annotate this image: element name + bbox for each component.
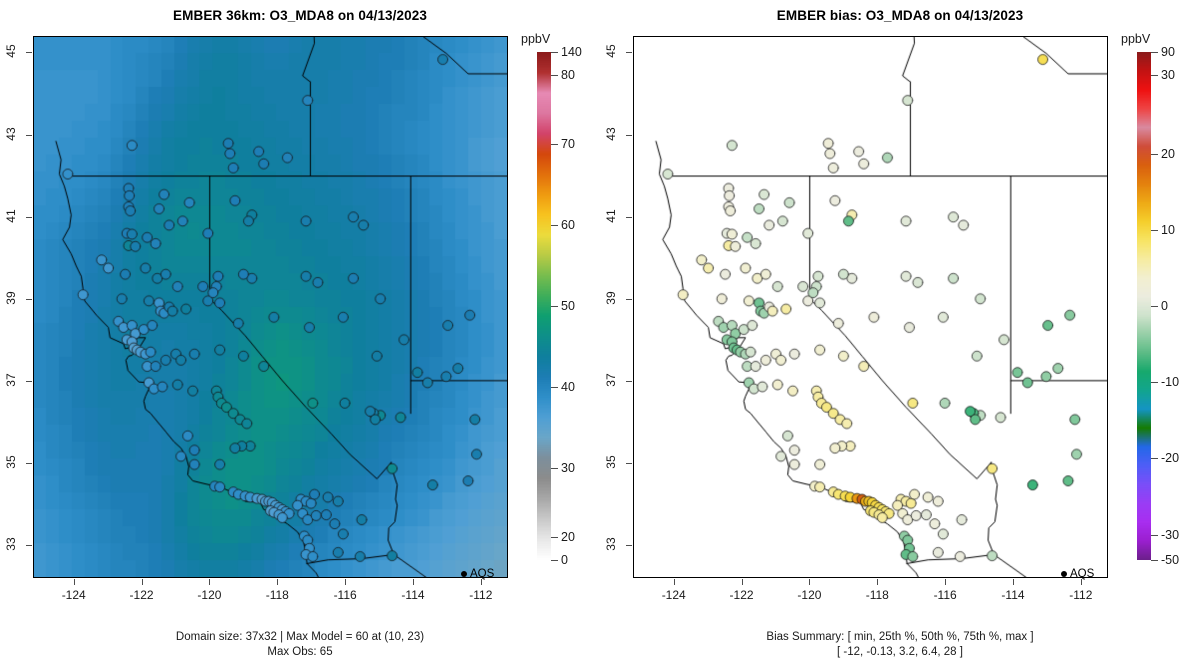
x-axis-label: -114 (991, 588, 1035, 602)
colorbar-tick-label: -20 (1161, 451, 1179, 465)
x-axis-label: -120 (787, 588, 831, 602)
panel-model: EMBER 36km: O3_MDA8 on 04/13/2023 -124-1… (0, 0, 600, 672)
y-axis-tick (626, 217, 632, 218)
map-plot-bias[interactable] (633, 36, 1108, 578)
y-axis-tick (26, 463, 32, 464)
colorbar-tick (1151, 458, 1158, 459)
footer-bias-line1: Bias Summary: [ min, 25th %, 50th %, 75t… (600, 630, 1200, 645)
y-axis-tick (26, 299, 32, 300)
x-axis-tick (1013, 579, 1014, 585)
colorbar-tick (551, 225, 558, 226)
colorbar-tick-label: 10 (1161, 223, 1175, 237)
colorbar-tick (551, 537, 558, 538)
x-axis-label: -122 (720, 588, 764, 602)
colorbar-tick-label: 20 (561, 530, 575, 544)
colorbar-tick-label: 0 (561, 553, 568, 567)
aqs-dot-icon (461, 571, 467, 577)
x-axis-tick (345, 579, 346, 585)
x-axis-tick (413, 579, 414, 585)
colorbar-tick-label: -50 (1161, 553, 1179, 567)
colorbar-tick-label: 90 (1161, 45, 1175, 59)
colorbar-tick (551, 52, 558, 53)
y-axis-tick (626, 463, 632, 464)
map-raster-canvas (34, 37, 507, 577)
x-axis-label: -118 (855, 588, 899, 602)
panel-title-bias: EMBER bias: O3_MDA8 on 04/13/2023 (600, 8, 1200, 23)
colorbar-tick (551, 560, 558, 561)
x-axis-tick (277, 579, 278, 585)
colorbar-tick (551, 468, 558, 469)
y-axis-tick (626, 52, 632, 53)
x-axis-tick (945, 579, 946, 585)
y-axis-label: 37 (4, 360, 18, 400)
map-bias-canvas (634, 37, 1107, 577)
x-axis-tick (142, 579, 143, 585)
x-axis-label: -118 (255, 588, 299, 602)
colorbar-tick-label: 60 (561, 218, 575, 232)
footer-model-line1: Domain size: 37x32 | Max Model = 60 at (… (0, 630, 600, 645)
colorbar-tick-label: 0 (1161, 299, 1168, 313)
colorbar-gradient-bias (1137, 52, 1151, 560)
colorbar-tick (1151, 560, 1158, 561)
aqs-legend-label: AQS (470, 568, 494, 580)
colorbar-tick (1151, 52, 1158, 53)
y-axis-tick (26, 217, 32, 218)
y-axis-label: 39 (604, 278, 618, 318)
y-axis-label: 45 (4, 31, 18, 71)
colorbar-tick (1151, 75, 1158, 76)
footer-model-line2: Max Obs: 65 (0, 645, 600, 660)
x-axis-tick (877, 579, 878, 585)
colorbar-title-model: ppbV (521, 32, 550, 46)
colorbar-tick (1151, 535, 1158, 536)
y-axis-tick (626, 135, 632, 136)
x-axis-tick (674, 579, 675, 585)
y-axis-label: 33 (4, 524, 18, 564)
y-axis-tick (26, 545, 32, 546)
x-axis-tick (742, 579, 743, 585)
colorbar-tick (551, 387, 558, 388)
colorbar-title-bias: ppbV (1121, 32, 1150, 46)
aqs-dot-icon (1061, 571, 1067, 577)
y-axis-label: 41 (604, 196, 618, 236)
aqs-legend-label: AQS (1070, 568, 1094, 580)
y-axis-tick (26, 381, 32, 382)
colorbar-tick (551, 75, 558, 76)
colorbar-tick (1151, 230, 1158, 231)
x-axis-label: -112 (1059, 588, 1103, 602)
panel-bias: EMBER bias: O3_MDA8 on 04/13/2023 -124-1… (600, 0, 1200, 672)
colorbar-tick-label: 20 (1161, 147, 1175, 161)
x-axis-label: -122 (120, 588, 164, 602)
x-axis-label: -124 (652, 588, 696, 602)
colorbar-gradient-model (537, 52, 551, 560)
colorbar-tick (551, 306, 558, 307)
y-axis-tick (626, 545, 632, 546)
colorbar-tick-label: 70 (561, 137, 575, 151)
y-axis-label: 43 (604, 114, 618, 154)
x-axis-label: -124 (52, 588, 96, 602)
x-axis-label: -114 (391, 588, 435, 602)
figure-root: EMBER 36km: O3_MDA8 on 04/13/2023 -124-1… (0, 0, 1200, 672)
y-axis-label: 37 (604, 360, 618, 400)
y-axis-label: 35 (604, 442, 618, 482)
x-axis-label: -116 (323, 588, 367, 602)
colorbar-tick-label: 30 (1161, 68, 1175, 82)
y-axis-label: 33 (604, 524, 618, 564)
y-axis-label: 41 (4, 196, 18, 236)
x-axis-label: -120 (187, 588, 231, 602)
y-axis-tick (26, 52, 32, 53)
colorbar-tick-label: -10 (1161, 375, 1179, 389)
y-axis-label: 43 (4, 114, 18, 154)
x-axis-label: -116 (923, 588, 967, 602)
x-axis-label: -112 (459, 588, 503, 602)
colorbar-tick (1151, 306, 1158, 307)
panel-title-model: EMBER 36km: O3_MDA8 on 04/13/2023 (0, 8, 600, 23)
y-axis-label: 39 (4, 278, 18, 318)
y-axis-tick (626, 381, 632, 382)
colorbar-tick-label: -30 (1161, 528, 1179, 542)
y-axis-tick (26, 135, 32, 136)
map-plot-model[interactable] (33, 36, 508, 578)
colorbar-tick-label: 80 (561, 68, 575, 82)
x-axis-tick (809, 579, 810, 585)
colorbar-tick (1151, 382, 1158, 383)
y-axis-label: 45 (604, 31, 618, 71)
footer-bias-line2: [ -12, -0.13, 3.2, 6.4, 28 ] (600, 645, 1200, 660)
y-axis-label: 35 (4, 442, 18, 482)
colorbar-tick-label: 30 (561, 461, 575, 475)
colorbar-tick-label: 140 (561, 45, 582, 59)
colorbar-tick (551, 144, 558, 145)
x-axis-tick (74, 579, 75, 585)
aqs-legend-bias: AQS (1061, 568, 1094, 580)
x-axis-tick (209, 579, 210, 585)
aqs-legend-model: AQS (461, 568, 494, 580)
y-axis-tick (626, 299, 632, 300)
colorbar-tick (1151, 154, 1158, 155)
colorbar-tick-label: 40 (561, 380, 575, 394)
colorbar-tick-label: 50 (561, 299, 575, 313)
